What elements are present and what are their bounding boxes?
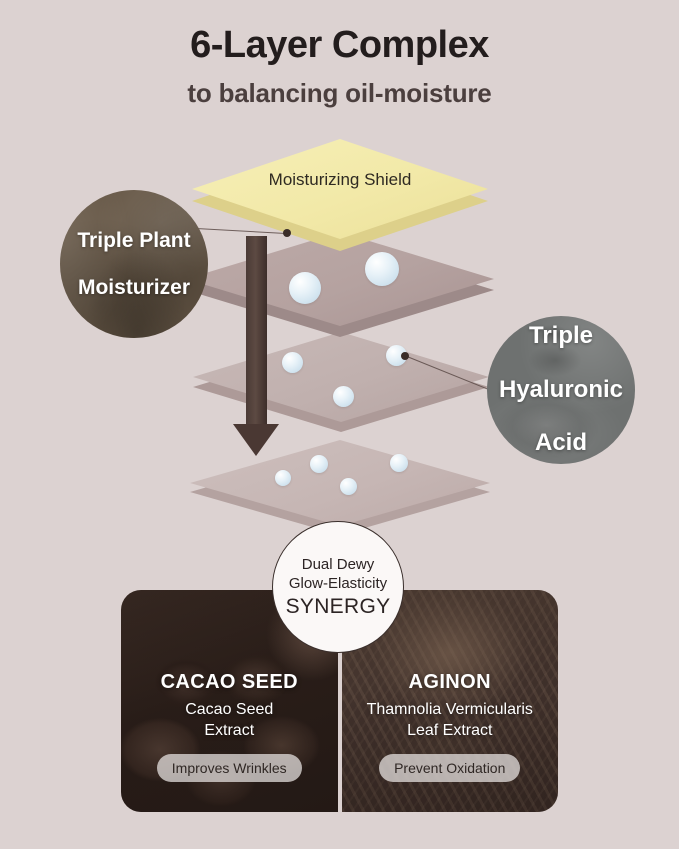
droplet: [282, 352, 303, 373]
badge-ha-label: Triple Hyaluronic Acid: [499, 323, 623, 457]
layer-third-side: [193, 342, 489, 432]
layer-bottom: [190, 440, 490, 526]
connector-dot-hyaluronic: [401, 352, 409, 360]
droplet: [333, 386, 354, 407]
cacao-card-subtitle: Cacao Seed Extract: [121, 699, 338, 741]
infographic-root: 6-Layer Complex to balancing oil-moistur…: [0, 0, 679, 849]
badge-ha-line3: Acid: [499, 430, 623, 457]
layer-second-side: [186, 243, 494, 337]
aginon-card-subtitle: Thamnolia Vermicularis Leaf Extract: [342, 699, 559, 741]
layer-second-top: [186, 232, 494, 326]
cacao-subtitle-line1: Cacao Seed: [185, 701, 273, 718]
shield-layer-label: Moisturizing Shield: [192, 170, 488, 190]
aginon-benefit-pill[interactable]: Prevent Oxidation: [379, 754, 520, 782]
aginon-card-heading: AGINON: [342, 671, 559, 694]
connector-dot-plant: [283, 229, 291, 237]
synergy-line3: SYNERGY: [286, 594, 391, 620]
layer-shield-side: [192, 151, 488, 251]
droplet: [340, 478, 357, 495]
cacao-benefit-pill[interactable]: Improves Wrinkles: [157, 754, 302, 782]
absorption-arrow-shaft: [246, 236, 267, 428]
badge-triple-plant-moisturizer[interactable]: Triple Plant Moisturizer: [60, 190, 208, 338]
layer-bottom-top: [190, 440, 490, 526]
layer-second: [186, 232, 494, 326]
badge-ha-line1: Triple: [499, 323, 623, 350]
layer-third: [193, 332, 489, 422]
badge-plant-line1: Triple Plant: [77, 229, 190, 253]
aginon-subtitle-line2: Leaf Extract: [407, 722, 492, 739]
droplet: [275, 470, 291, 486]
layer-third-top: [193, 332, 489, 422]
cacao-card-heading: CACAO SEED: [121, 671, 338, 694]
droplet: [365, 252, 399, 286]
cacao-subtitle-line2: Extract: [204, 722, 254, 739]
synergy-line2: Glow-Elasticity: [289, 574, 387, 593]
droplet: [390, 454, 408, 472]
badge-triple-hyaluronic-acid[interactable]: Triple Hyaluronic Acid: [487, 316, 635, 464]
synergy-circle[interactable]: Dual Dewy Glow-Elasticity SYNERGY: [272, 521, 404, 653]
layer-shield: [192, 139, 488, 239]
absorption-arrow-head: [233, 424, 279, 456]
droplet: [386, 345, 407, 366]
badge-plant-line2: Moisturizer: [77, 276, 190, 300]
page-title: 6-Layer Complex: [0, 22, 679, 68]
badge-plant-label: Triple Plant Moisturizer: [77, 229, 190, 300]
page-subtitle: to balancing oil-moisture: [0, 76, 679, 110]
synergy-line1: Dual Dewy: [302, 555, 375, 574]
layer-shield-top: [192, 139, 488, 239]
droplet: [310, 455, 328, 473]
aginon-subtitle-line1: Thamnolia Vermicularis: [367, 701, 533, 718]
droplet: [289, 272, 321, 304]
badge-ha-line2: Hyaluronic: [499, 377, 623, 404]
